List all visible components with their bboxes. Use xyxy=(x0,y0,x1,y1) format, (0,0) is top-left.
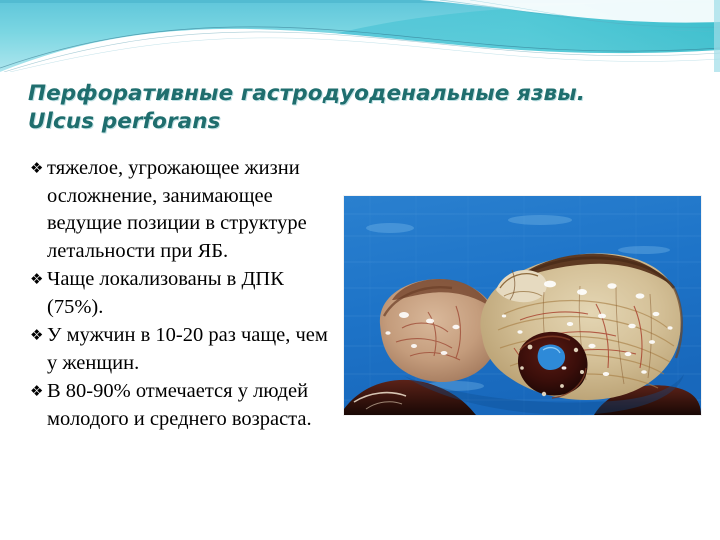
slide-canvas: Перфоративные гастродуоденальные язвы. U… xyxy=(0,0,720,540)
diamond-bullet-icon: ❖ xyxy=(30,378,47,406)
bullet-text: У мужчин в 10-20 раз чаще, чем у женщин. xyxy=(47,322,336,377)
slide-title: Перфоративные гастродуоденальные язвы. U… xyxy=(28,80,668,136)
diamond-bullet-icon: ❖ xyxy=(30,266,47,294)
bullet-text: тяжелое, угрожающее жизни осложнение, за… xyxy=(47,155,336,265)
bullet-text: Чаще локализованы в ДПК (75%). xyxy=(47,266,336,321)
diamond-bullet-icon: ❖ xyxy=(30,322,47,350)
list-item: ❖ Чаще локализованы в ДПК (75%). xyxy=(30,266,336,321)
bullet-text: В 80-90% отмечается у людей молодого и с… xyxy=(47,378,336,433)
header-banner-decoration xyxy=(0,0,720,72)
perforated-ulcer-specimen-photo xyxy=(344,196,701,415)
title-line-primary: Перфоративные гастродуоденальные язвы. xyxy=(28,80,668,108)
bullet-list: ❖ тяжелое, угрожающее жизни осложнение, … xyxy=(30,155,336,434)
banner-waves-graphic xyxy=(0,0,720,72)
list-item: ❖ У мужчин в 10-20 раз чаще, чем у женщи… xyxy=(30,322,336,377)
list-item: ❖ В 80-90% отмечается у людей молодого и… xyxy=(30,378,336,433)
list-item: ❖ тяжелое, угрожающее жизни осложнение, … xyxy=(30,155,336,265)
specimen-illustration xyxy=(344,196,701,415)
title-line-secondary: Ulcus perforans xyxy=(28,108,668,136)
diamond-bullet-icon: ❖ xyxy=(30,155,47,183)
